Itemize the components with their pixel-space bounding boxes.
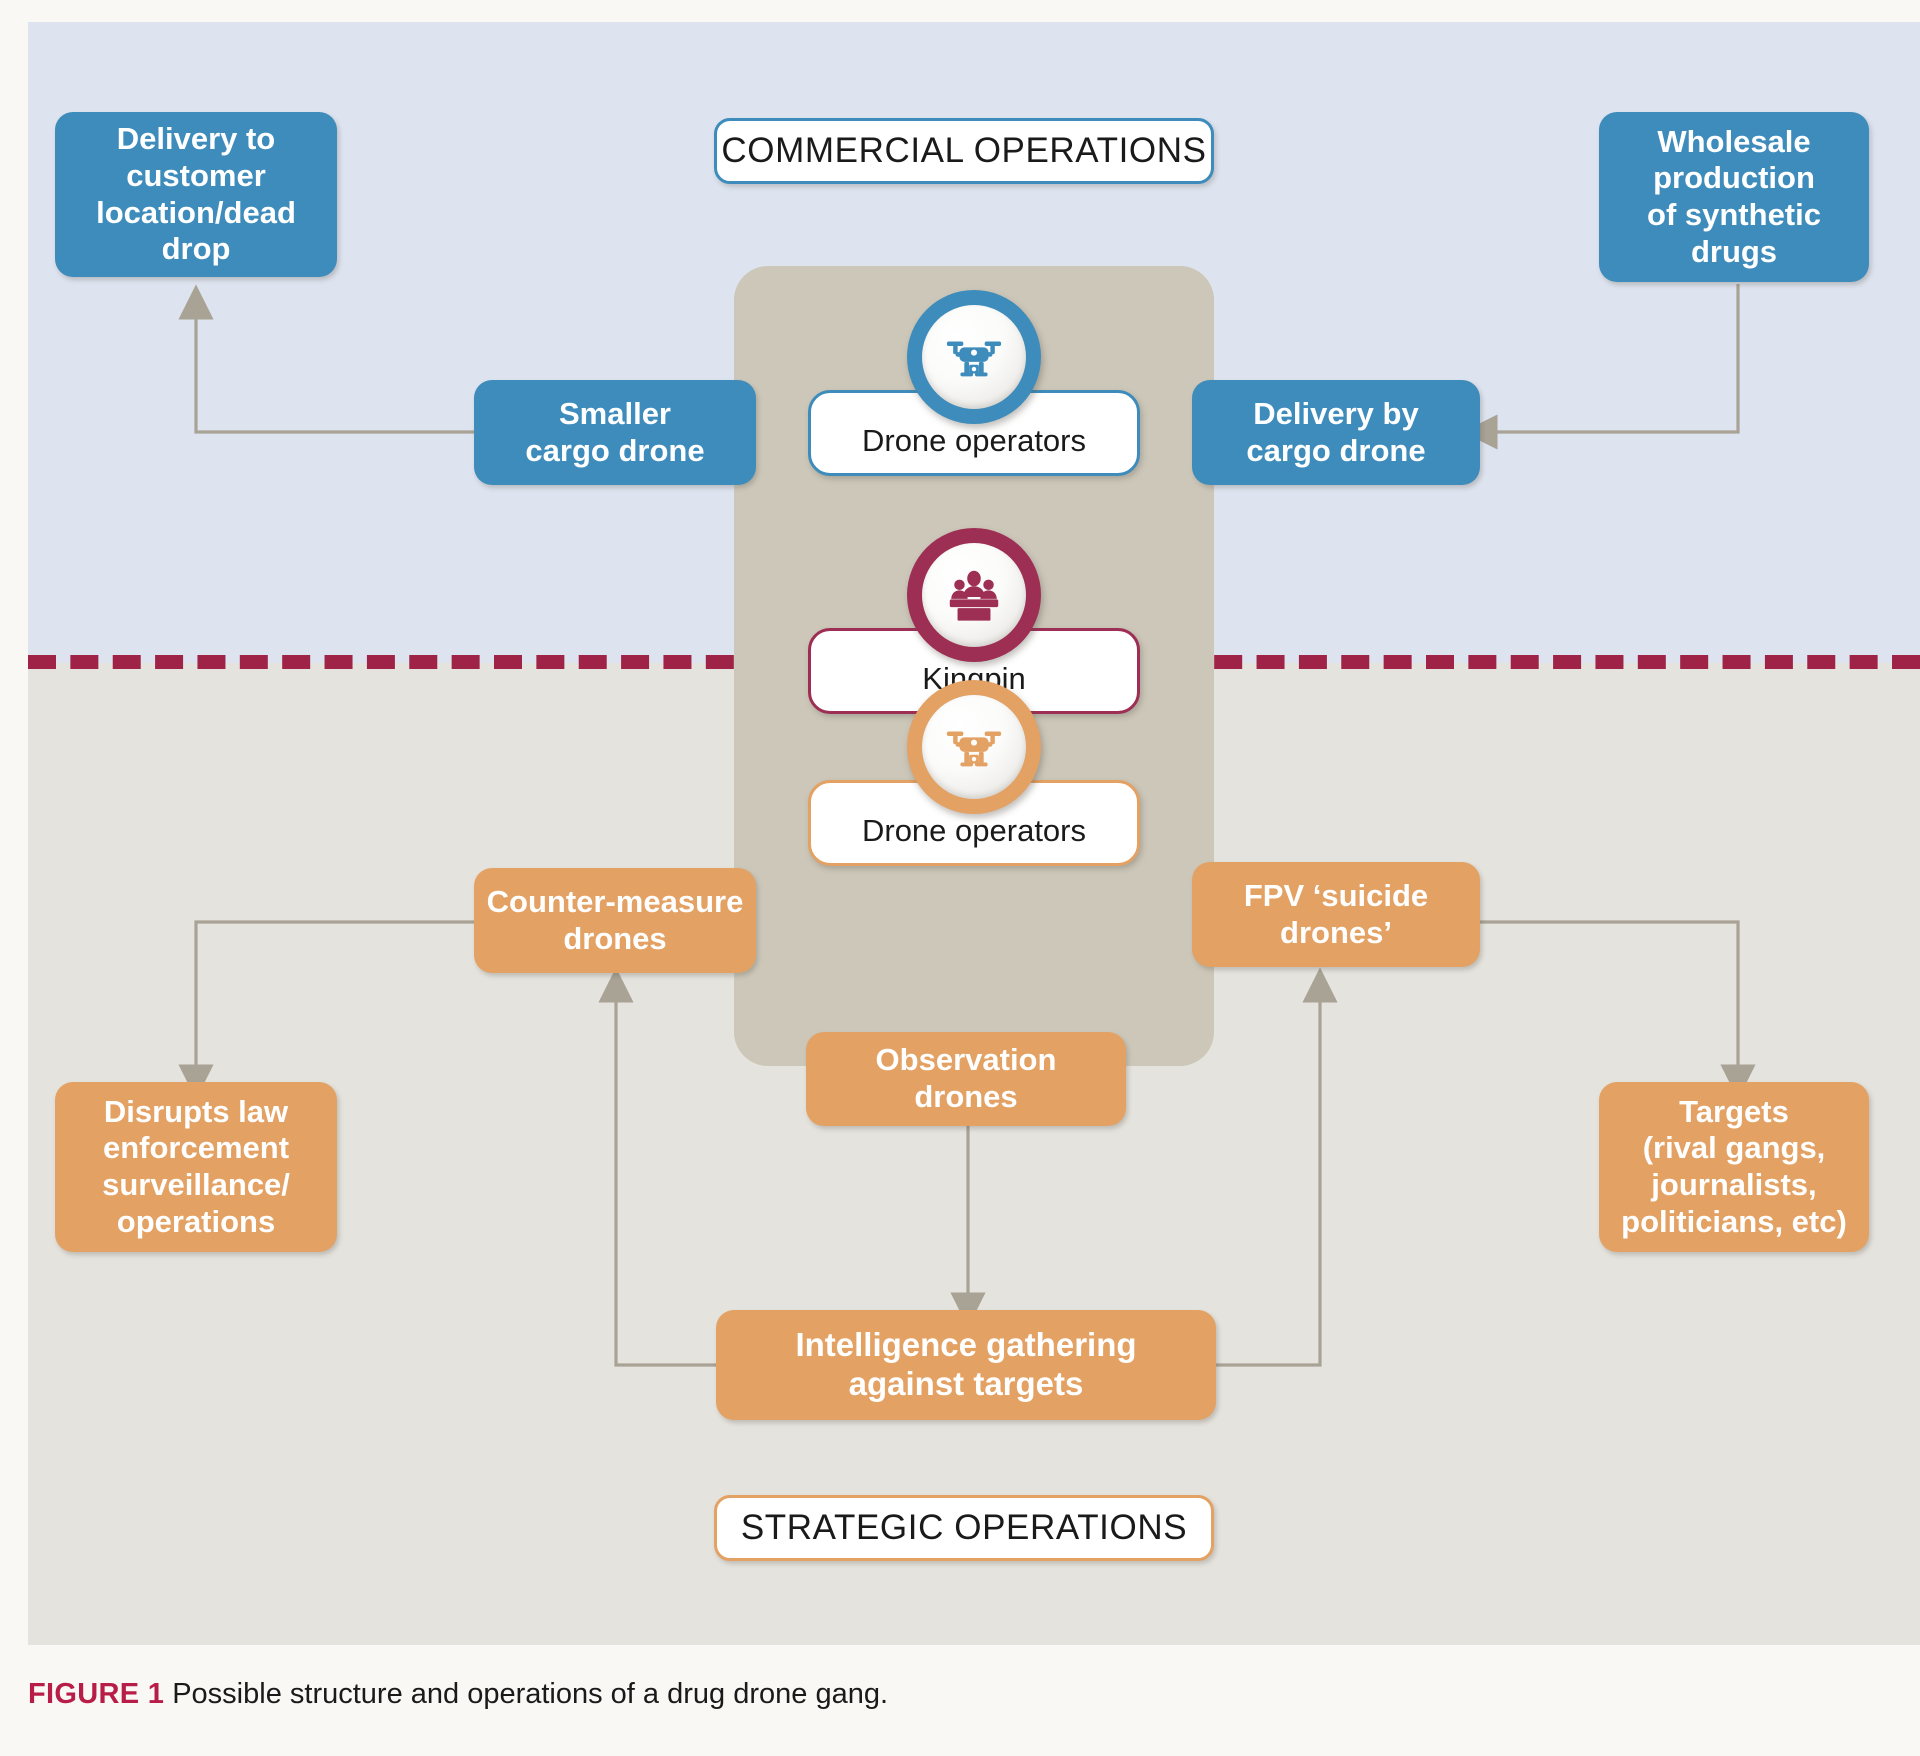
drone-icon bbox=[943, 326, 1005, 388]
node-delivery-by-cargo-drone[interactable]: Delivery by cargo drone bbox=[1192, 380, 1480, 485]
node-observation-drones[interactable]: Observation drones bbox=[806, 1032, 1126, 1126]
node-fpv-suicide-drones[interactable]: FPV ‘suicide drones’ bbox=[1192, 862, 1480, 967]
kingpin-podium-icon bbox=[943, 564, 1005, 626]
drone-icon-ring-blue bbox=[907, 290, 1041, 424]
drone-icon-ring-tan bbox=[907, 680, 1041, 814]
node-intelligence-gathering[interactable]: Intelligence gathering against targets bbox=[716, 1310, 1216, 1420]
commercial-operations-banner: COMMERCIAL OPERATIONS bbox=[714, 118, 1214, 184]
strategic-operations-banner: STRATEGIC OPERATIONS bbox=[714, 1495, 1214, 1561]
figure-canvas: COMMERCIAL OPERATIONS STRATEGIC OPERATIO… bbox=[0, 0, 1920, 1756]
node-smaller-cargo-drone[interactable]: Smaller cargo drone bbox=[474, 380, 756, 485]
node-disrupts-law-enforcement[interactable]: Disrupts law enforcement surveillance/ o… bbox=[55, 1082, 337, 1252]
node-wholesale-production[interactable]: Wholesale production of synthetic drugs bbox=[1599, 112, 1869, 282]
role-drone-operators-strategic[interactable]: Drone operators bbox=[808, 680, 1140, 866]
node-delivery-to-customer[interactable]: Delivery to customer location/dead drop bbox=[55, 112, 337, 277]
figure-caption-label: FIGURE 1 bbox=[28, 1678, 164, 1710]
drone-icon bbox=[943, 716, 1005, 778]
node-counter-measure-drones[interactable]: Counter-measure drones bbox=[474, 868, 756, 973]
figure-caption-text: Possible structure and operations of a d… bbox=[164, 1678, 888, 1710]
figure-caption: FIGURE 1 Possible structure and operatio… bbox=[28, 1678, 888, 1711]
role-drone-operators-commercial[interactable]: Drone operators bbox=[808, 290, 1140, 476]
kingpin-icon-ring-maroon bbox=[907, 528, 1041, 662]
node-targets[interactable]: Targets (rival gangs, journalists, polit… bbox=[1599, 1082, 1869, 1252]
